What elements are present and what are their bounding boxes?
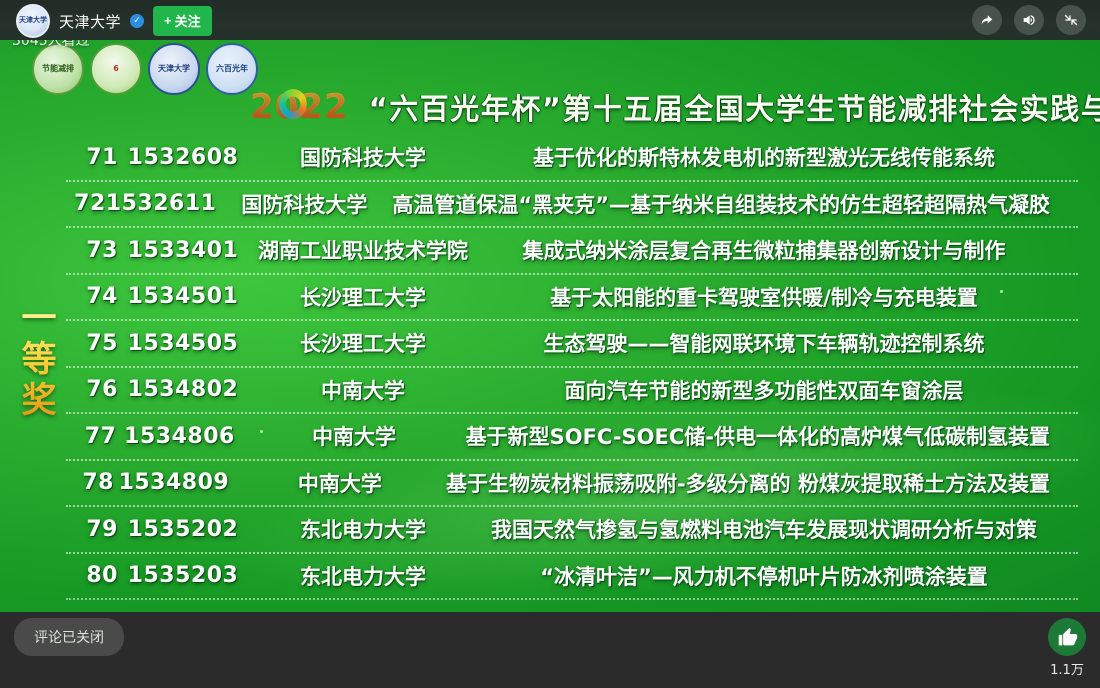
table-row: 73 1533401 湖南工业职业技术学院 集成式纳米涂层复合再生微粒捕集器创新… xyxy=(66,228,1078,275)
cell-org: 湖南工业职业技术学院 xyxy=(248,235,478,265)
table-row: 77 1534806 中南大学 基于新型SOFC-SOEC储-供电一体化的高炉煤… xyxy=(66,414,1078,461)
organizer-logos: 节能减排 6 天津大学 六百光年 xyxy=(32,43,258,95)
cell-org: 长沙理工大学 xyxy=(248,282,478,312)
cell-org: 长沙理工大学 xyxy=(248,328,478,358)
cell-code: 1532608 xyxy=(118,145,248,170)
cell-org: 国防科技大学 xyxy=(216,189,392,219)
cell-project: 基于优化的斯特林发电机的新型激光无线传能系统 xyxy=(478,142,1078,172)
cell-index: 78 xyxy=(66,470,114,495)
cell-code: 1534802 xyxy=(118,377,248,402)
logo-six-hundred-icon: 6 xyxy=(90,43,142,95)
follow-button[interactable]: + 关注 xyxy=(153,6,212,36)
cell-index: 73 xyxy=(66,238,118,263)
cell-code: 1535203 xyxy=(118,563,248,588)
cell-project: 高温管道保温“黑夹克”—基于纳米自组装技术的仿生超轻超隔热气凝胶 xyxy=(392,189,1078,219)
cell-project: 我国天然气掺氢与氢燃料电池汽车发展现状调研分析与对策 xyxy=(478,514,1078,544)
cell-project: 面向汽车节能的新型多功能性双面车窗涂层 xyxy=(478,375,1078,405)
cell-project: 基于太阳能的重卡驾驶室供暖/制冷与充电装置 xyxy=(478,282,1078,312)
exit-fullscreen-icon[interactable] xyxy=(1056,5,1086,35)
table-row: 80 1535203 东北电力大学 “冰清叶洁”—风力机不停机叶片防冰剂喷涂装置 xyxy=(66,554,1078,601)
share-icon[interactable] xyxy=(972,5,1002,35)
cell-project: 生态驾驶——智能网联环境下车辆轨迹控制系统 xyxy=(478,328,1078,358)
player-bottom-bar xyxy=(0,612,1100,688)
cell-org: 中南大学 xyxy=(234,468,446,498)
cell-index: 72 xyxy=(66,191,106,216)
cell-code: 1534505 xyxy=(118,331,248,356)
player-top-actions xyxy=(972,5,1086,35)
cell-index: 79 xyxy=(66,517,118,542)
slide-title-banner: 2022 “六百光年杯”第十五届全国大学生节能减排社会实践与科技竞赛 xyxy=(250,84,1060,130)
volume-icon[interactable] xyxy=(1014,5,1044,35)
table-row: 75 1534505 长沙理工大学 生态驾驶——智能网联环境下车辆轨迹控制系统 xyxy=(66,321,1078,368)
cell-project: 集成式纳米涂层复合再生微粒捕集器创新设计与制作 xyxy=(478,235,1078,265)
cell-index: 71 xyxy=(66,145,118,170)
thumbs-up-icon[interactable] xyxy=(1048,618,1086,656)
channel-info[interactable]: 天津大学 天津大学 ✓ + 关注 xyxy=(16,4,212,38)
cell-org: 东北电力大学 xyxy=(248,514,478,544)
cell-index: 77 xyxy=(66,424,116,449)
year-badge: 2022 xyxy=(250,87,349,127)
cell-code: 1534806 xyxy=(116,424,242,449)
table-row: 72 1532611 国防科技大学 高温管道保温“黑夹克”—基于纳米自组装技术的… xyxy=(66,182,1078,229)
cell-org: 东北电力大学 xyxy=(248,561,478,591)
channel-name: 天津大学 xyxy=(59,11,121,32)
year-ring-icon xyxy=(279,89,307,119)
live-player: 节能减排 6 天津大学 六百光年 2022 “六百光年杯”第十五届全国大学生节能… xyxy=(0,0,1100,688)
cell-project: 基于生物炭材料振荡吸附-多级分离的 粉煤灰提取稀土方法及装置 xyxy=(446,468,1078,498)
cell-code: 1532611 xyxy=(106,191,217,216)
logo-university-seal-icon: 天津大学 xyxy=(148,43,200,95)
cell-org: 中南大学 xyxy=(248,375,478,405)
cell-index: 80 xyxy=(66,563,118,588)
like-control: 1.1万 xyxy=(1048,618,1086,678)
logo-green-leaf-icon: 节能减排 xyxy=(32,43,84,95)
cell-index: 74 xyxy=(66,284,118,309)
slide-header: 节能减排 6 天津大学 六百光年 2022 “六百光年杯”第十五届全国大学生节能… xyxy=(0,40,1100,108)
award-grade-char-1: 一 xyxy=(21,302,56,337)
comment-status-pill: 评论已关闭 xyxy=(14,618,124,656)
slide-canvas: 节能减排 6 天津大学 六百光年 2022 “六百光年杯”第十五届全国大学生节能… xyxy=(0,40,1100,612)
follow-button-label: 关注 xyxy=(175,11,201,30)
cell-code: 1534809 xyxy=(114,470,234,495)
table-row: 78 1534809 中南大学 基于生物炭材料振荡吸附-多级分离的 粉煤灰提取稀… xyxy=(66,461,1078,508)
award-grade-label: 一 等 奖 xyxy=(12,302,66,419)
plus-icon: + xyxy=(164,13,172,28)
cell-project: 基于新型SOFC-SOEC储-供电一体化的高炉煤气低碳制氢装置 xyxy=(466,421,1078,451)
cell-code: 1534501 xyxy=(118,284,248,309)
cell-project: “冰清叶洁”—风力机不停机叶片防冰剂喷涂装置 xyxy=(478,561,1078,591)
cell-org: 中南大学 xyxy=(243,421,466,451)
cell-index: 75 xyxy=(66,331,118,356)
cell-index: 76 xyxy=(66,377,118,402)
slide-title: “六百光年杯”第十五届全国大学生节能减排社会实践与科技竞赛 xyxy=(369,86,1100,128)
cell-code: 1533401 xyxy=(118,238,248,263)
award-grade-char-3: 奖 xyxy=(21,384,56,419)
verified-badge-icon: ✓ xyxy=(130,14,144,28)
award-table: 71 1532608 国防科技大学 基于优化的斯特林发电机的新型激光无线传能系统… xyxy=(66,135,1078,600)
like-count: 1.1万 xyxy=(1050,659,1084,678)
table-row: 74 1534501 长沙理工大学 基于太阳能的重卡驾驶室供暖/制冷与充电装置 xyxy=(66,275,1078,322)
cell-org: 国防科技大学 xyxy=(248,142,478,172)
table-row: 76 1534802 中南大学 面向汽车节能的新型多功能性双面车窗涂层 xyxy=(66,368,1078,415)
table-row: 79 1535202 东北电力大学 我国天然气掺氢与氢燃料电池汽车发展现状调研分… xyxy=(66,507,1078,554)
avatar[interactable]: 天津大学 xyxy=(16,4,50,38)
award-grade-char-2: 等 xyxy=(21,343,56,378)
cell-code: 1535202 xyxy=(118,517,248,542)
table-row: 71 1532608 国防科技大学 基于优化的斯特林发电机的新型激光无线传能系统 xyxy=(66,135,1078,182)
